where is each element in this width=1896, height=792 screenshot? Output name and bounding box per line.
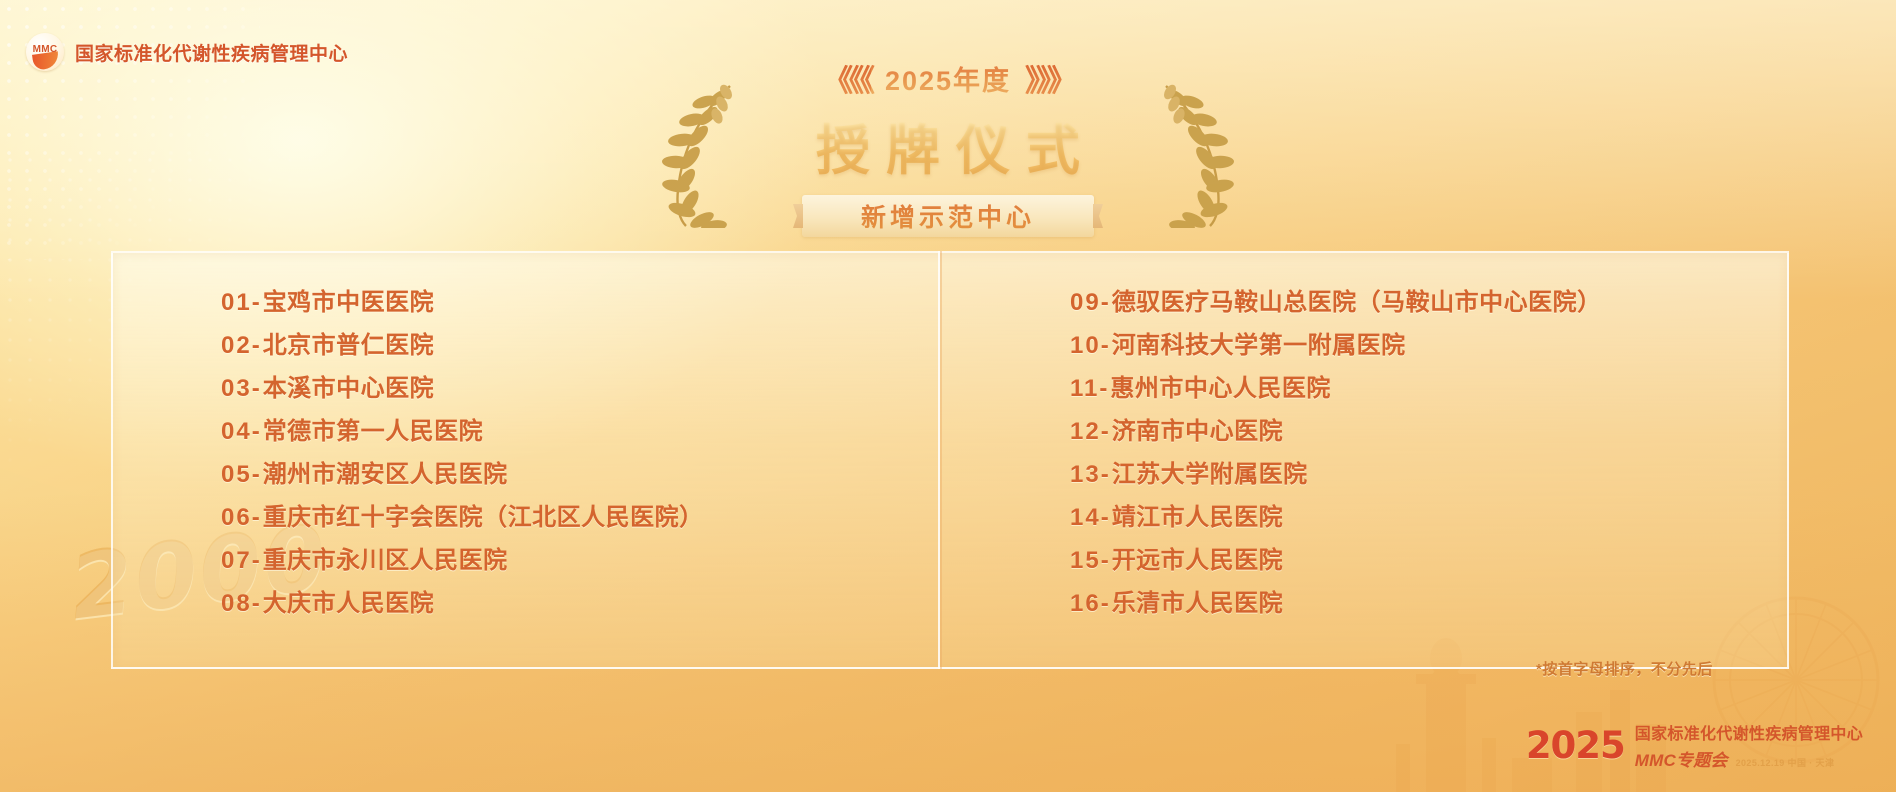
hospital-item-name: 开远市人民医院 — [1112, 547, 1284, 574]
hospital-list-panel: 01-宝鸡市中医医院02-北京市普仁医院03-本溪市中心医院04-常德市第一人民… — [111, 251, 1789, 669]
chevron-left-icon: 《《《 — [823, 56, 871, 100]
hospital-list-item: 12-济南市中心医院 — [1070, 410, 1787, 453]
event-date-location: 2025.12.19 中国 · 天津 — [1736, 756, 1835, 769]
event-year: 2025 — [1526, 727, 1625, 764]
hospital-item-name: 靖江市人民医院 — [1112, 504, 1284, 531]
hospital-list-item: 06-重庆市红十字会医院（江北区人民医院） — [221, 496, 938, 539]
hospital-item-number: 16- — [1070, 590, 1111, 617]
footnote-text: *按首字母排序，不分先后 — [1536, 658, 1713, 679]
hospital-list-right-column: 09-德驭医疗马鞍山总医院（马鞍山市中心医院）10-河南科技大学第一附属医院11… — [942, 253, 1787, 667]
subtitle-banner: 新增示范中心 — [802, 195, 1094, 237]
hospital-item-name: 大庆市人民医院 — [263, 590, 435, 617]
hospital-list-left-column: 01-宝鸡市中医医院02-北京市普仁医院03-本溪市中心医院04-常德市第一人民… — [113, 253, 938, 667]
hospital-item-name: 济南市中心医院 — [1112, 418, 1284, 445]
hospital-list-item: 01-宝鸡市中医医院 — [221, 281, 938, 324]
hospital-list-item: 13-江苏大学附属医院 — [1070, 453, 1787, 496]
hospital-list-item: 02-北京市普仁医院 — [221, 324, 938, 367]
hospital-item-name: 江苏大学附属医院 — [1112, 461, 1308, 488]
hospital-item-name: 潮州市潮安区人民医院 — [263, 461, 508, 488]
hospital-item-name: 重庆市红十字会医院（江北区人民医院） — [263, 504, 704, 531]
hospital-item-number: 07- — [221, 547, 262, 574]
hospital-item-name: 本溪市中心医院 — [263, 375, 435, 402]
hospital-item-number: 11- — [1070, 375, 1109, 402]
hospital-item-number: 03- — [221, 375, 262, 402]
hospital-item-name: 北京市普仁医院 — [263, 332, 435, 359]
event-name: MMC专题会 — [1635, 746, 1728, 771]
chevron-right-icon: 》》》 — [1025, 56, 1073, 100]
title-kicker-row: 《《《 2025年度 》》》 — [823, 56, 1073, 100]
event-logo: 2025 国家标准化代谢性疾病管理中心 MMC专题会 2025.12.19 中国… — [1526, 720, 1863, 771]
hospital-item-name: 河南科技大学第一附属医院 — [1112, 332, 1406, 359]
hospital-list-item: 08-大庆市人民医院 — [221, 582, 938, 625]
hospital-item-number: 14- — [1070, 504, 1111, 531]
hospital-item-number: 06- — [221, 504, 262, 531]
hospital-list-item: 11-惠州市中心人民医院 — [1070, 367, 1787, 410]
hospital-item-number: 15- — [1070, 547, 1111, 574]
hospital-item-number: 13- — [1070, 461, 1111, 488]
hospital-item-number: 01- — [221, 289, 262, 316]
hospital-list-item: 10-河南科技大学第一附属医院 — [1070, 324, 1787, 367]
hospital-item-number: 04- — [221, 418, 262, 445]
poster-canvas: 2000 MMC 国家标准化代谢性疾病管理中 — [0, 0, 1896, 792]
hospital-item-number: 10- — [1070, 332, 1111, 359]
hospital-list-item: 15-开远市人民医院 — [1070, 539, 1787, 582]
hospital-list-item: 03-本溪市中心医院 — [221, 367, 938, 410]
hospital-item-name: 常德市第一人民医院 — [263, 418, 484, 445]
title-block: 《《《 2025年度 》》》 授牌仪式 新增示范中心 — [0, 56, 1896, 237]
hospital-item-number: 08- — [221, 590, 262, 617]
hospital-item-number: 12- — [1070, 418, 1111, 445]
title-kicker-text: 2025年度 — [885, 59, 1011, 98]
event-org-name: 国家标准化代谢性疾病管理中心 — [1635, 720, 1863, 744]
hospital-list-item: 04-常德市第一人民医院 — [221, 410, 938, 453]
mmc-logo-text: MMC — [33, 44, 58, 55]
hospital-item-number: 02- — [221, 332, 262, 359]
hospital-list-item: 14-靖江市人民医院 — [1070, 496, 1787, 539]
event-subtitle-row: MMC专题会 2025.12.19 中国 · 天津 — [1635, 746, 1863, 771]
hospital-item-name: 重庆市永川区人民医院 — [263, 547, 508, 574]
hospital-list-item: 07-重庆市永川区人民医院 — [221, 539, 938, 582]
hospital-item-number: 05- — [221, 461, 262, 488]
subtitle-banner-text: 新增示范中心 — [861, 198, 1035, 234]
hospital-list-item: 16-乐清市人民医院 — [1070, 582, 1787, 625]
hospital-item-name: 德驭医疗马鞍山总医院（马鞍山市中心医院） — [1112, 289, 1602, 316]
event-logo-text: 国家标准化代谢性疾病管理中心 MMC专题会 2025.12.19 中国 · 天津 — [1635, 720, 1863, 771]
hospital-item-name: 惠州市中心人民医院 — [1110, 375, 1331, 402]
hospital-item-name: 宝鸡市中医医院 — [263, 289, 435, 316]
hospital-item-number: 09- — [1070, 289, 1111, 316]
page-title: 授牌仪式 — [0, 106, 1896, 185]
hospital-item-name: 乐清市人民医院 — [1112, 590, 1284, 617]
hospital-list-item: 05-潮州市潮安区人民医院 — [221, 453, 938, 496]
hospital-list-item: 09-德驭医疗马鞍山总医院（马鞍山市中心医院） — [1070, 281, 1787, 324]
